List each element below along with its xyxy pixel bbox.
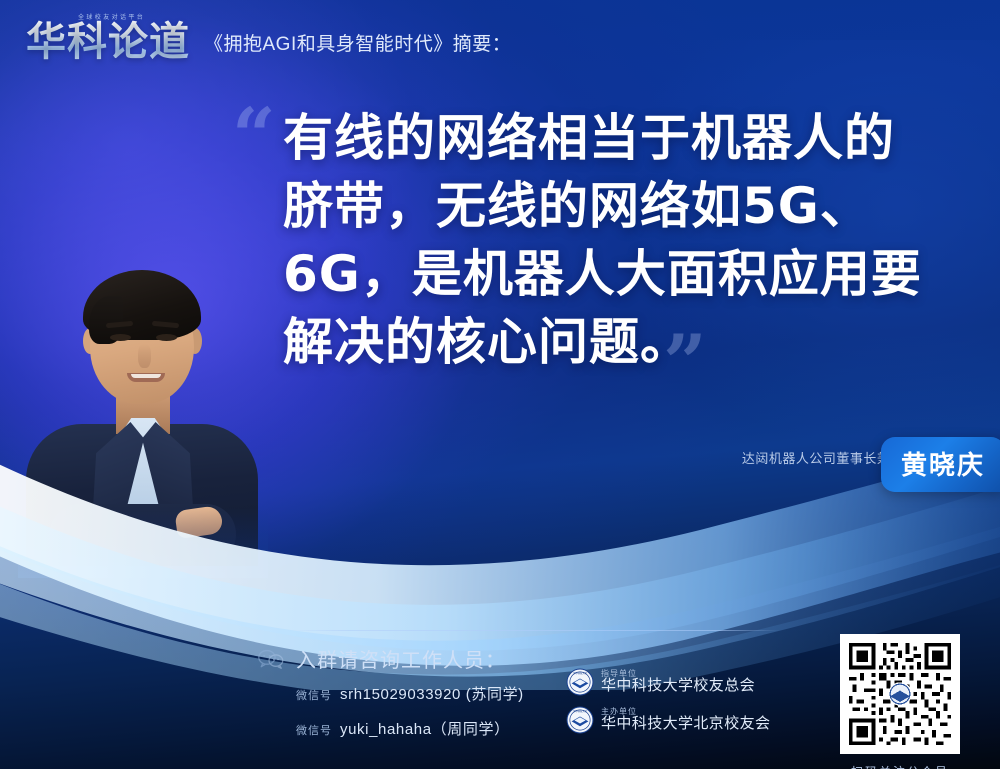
portrait-eyebrow-left — [106, 321, 133, 328]
qr-code-icon[interactable] — [840, 634, 960, 754]
portrait-lapel-right — [142, 422, 194, 526]
university-seal-icon: 华中科技大学 — [566, 706, 594, 734]
qr-caption: 扫码关注公众号 — [836, 763, 964, 769]
logo-tagline: 全球校友对话平台 — [78, 12, 145, 21]
organization-item: 华中科技大学 主办单位 华中科技大学北京校友会 — [566, 706, 770, 734]
portrait-suit — [26, 424, 258, 566]
portrait-hair — [83, 270, 201, 340]
portrait-crossed-arms — [50, 504, 236, 564]
footer-title: 入群请咨询工作人员： — [296, 644, 506, 673]
svg-text:华中科技大学: 华中科技大学 — [573, 709, 587, 713]
quote-line: 脐带，无线的网络如5G、 — [283, 172, 943, 240]
portrait-mouth — [127, 373, 165, 382]
portrait-lapel-left — [92, 422, 144, 526]
header-title: 《拥抱AGI和具身智能时代》摘要： — [204, 29, 511, 62]
quote-open-mark: “ — [232, 98, 276, 174]
portrait-neck — [116, 390, 170, 434]
portrait-eyebrow-right — [152, 321, 179, 328]
organization-name: 华中科技大学北京校友会 — [601, 716, 770, 732]
portrait-shirt — [94, 418, 192, 508]
portrait-ear-left — [83, 328, 97, 354]
contact-label: 微信号 — [296, 722, 332, 738]
contact-value[interactable]: yuki_hahaha（周同学） — [340, 718, 510, 739]
university-seal-icon: 华中科技大学 — [566, 668, 594, 696]
organization-name: 华中科技大学校友总会 — [601, 678, 755, 694]
quote-line: 解决的核心问题。 — [283, 308, 943, 376]
qr-block: 扫码关注公众号 — [836, 634, 964, 769]
speaker-name-badge: 黄晓庆 — [881, 437, 1000, 492]
portrait-nose — [138, 344, 151, 368]
quote-close-mark: ” — [663, 325, 707, 401]
brand-logo: 全球校友对话平台 华科论道 — [26, 14, 190, 62]
quote-text: 有线的网络相当于机器人的 脐带，无线的网络如5G、 6G，是机器人大面积应用要 … — [283, 104, 943, 376]
organization-list: 华中科技大学 指导单位 华中科技大学校友总会 华中科技大学 主办单位 华中科技大… — [566, 668, 770, 744]
svg-text:华中科技大学: 华中科技大学 — [573, 671, 587, 675]
portrait-eye-left — [110, 334, 131, 341]
wechat-icon — [258, 649, 284, 669]
logo-wordmark: 华科论道 — [26, 14, 190, 62]
portrait-ear-right — [188, 328, 202, 354]
speaker-portrait — [28, 272, 256, 562]
portrait-hand — [174, 505, 223, 539]
quote-line: 6G，是机器人大面积应用要 — [283, 240, 943, 308]
organization-item: 华中科技大学 指导单位 华中科技大学校友总会 — [566, 668, 770, 696]
quote-line: 有线的网络相当于机器人的 — [283, 104, 943, 172]
poster-canvas: 全球校友对话平台 华科论道 《拥抱AGI和具身智能时代》摘要： — [0, 0, 1000, 769]
footer-divider — [288, 630, 780, 631]
contact-label: 微信号 — [296, 687, 332, 703]
portrait-face — [90, 278, 194, 404]
portrait-eye-right — [156, 334, 177, 341]
contact-value[interactable]: srh15029033920 (苏同学) — [340, 683, 524, 704]
header: 全球校友对话平台 华科论道 《拥抱AGI和具身智能时代》摘要： — [26, 14, 511, 62]
portrait-bottom-fade — [18, 508, 268, 578]
